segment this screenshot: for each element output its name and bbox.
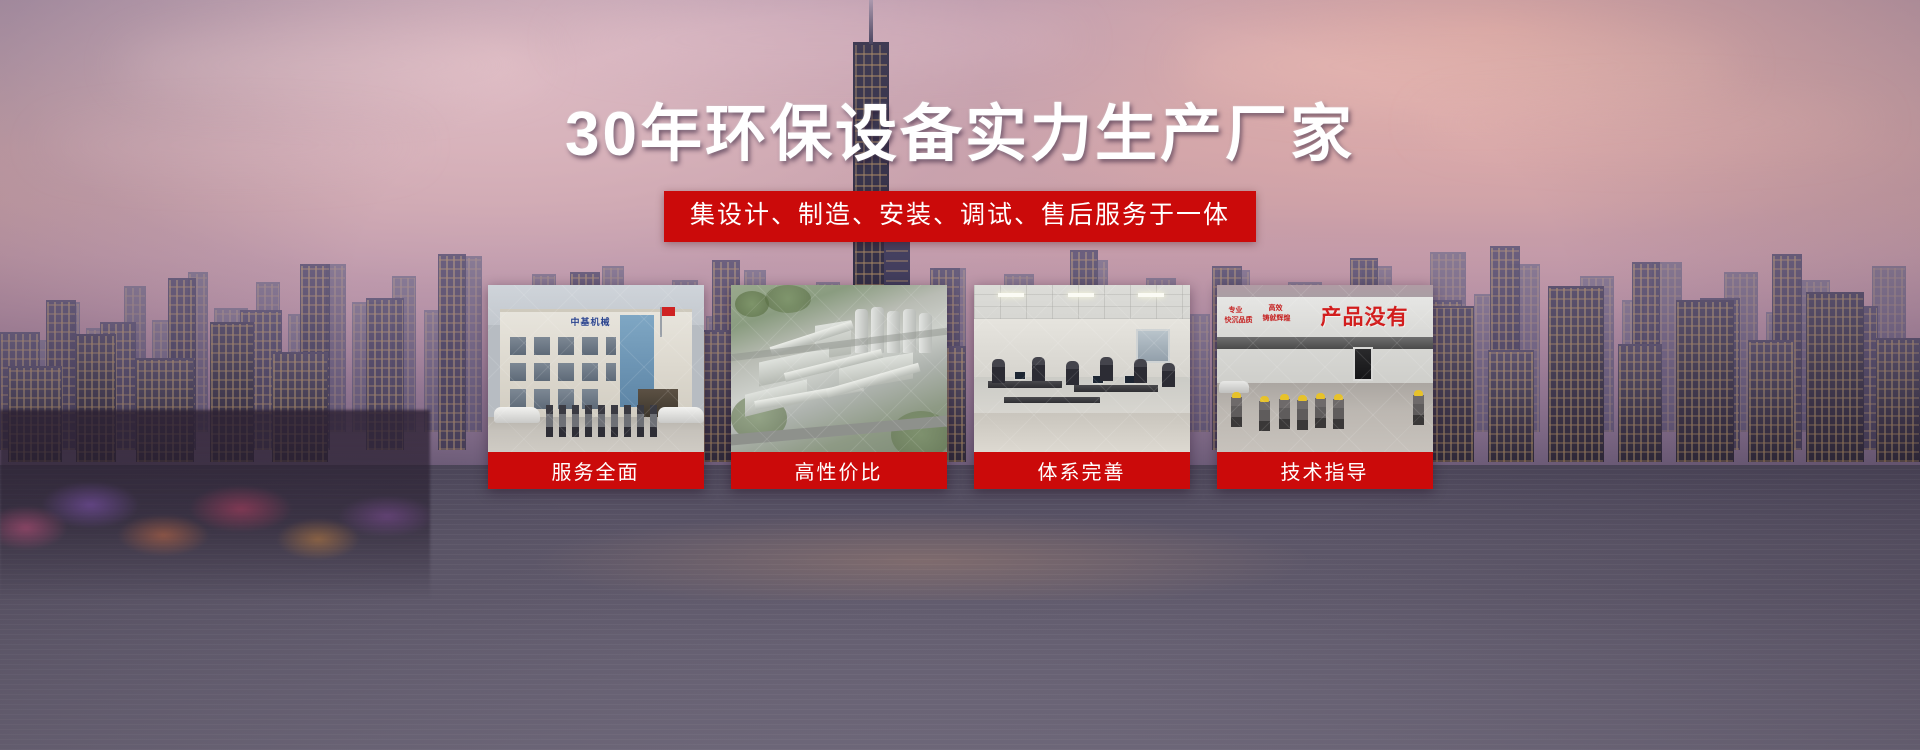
factory-slogan-4: 铸就辉煌 bbox=[1263, 315, 1291, 324]
factory-slogan-2: 快沉品质 bbox=[1225, 317, 1253, 326]
page-title: 30年环保设备实力生产厂家 bbox=[565, 104, 1355, 166]
feature-card[interactable]: 产品没有 专业 快沉品质 高效 铸就辉煌 技 bbox=[1217, 285, 1433, 489]
factory-wall-banner-text: 产品没有 bbox=[1321, 301, 1409, 331]
card-photo-factory-yard: 产品没有 专业 快沉品质 高效 铸就辉煌 bbox=[1217, 285, 1433, 452]
card-photo-company-building: 中基机械 bbox=[488, 285, 704, 452]
building-sign-text: 中基机械 bbox=[548, 315, 634, 328]
card-label: 高性价比 bbox=[731, 452, 947, 489]
feature-card-list: 中基机械 bbox=[488, 285, 1433, 489]
card-label: 体系完善 bbox=[974, 452, 1190, 489]
feature-card[interactable]: 高性价比 bbox=[731, 285, 947, 489]
feature-card[interactable]: 中基机械 bbox=[488, 285, 704, 489]
factory-slogan-3: 高效 bbox=[1269, 305, 1283, 314]
subtitle-badge: 集设计、制造、安装、调试、售后服务于一体 bbox=[664, 191, 1256, 242]
card-label: 服务全面 bbox=[488, 452, 704, 489]
banner-content: 30年环保设备实力生产厂家 集设计、制造、安装、调试、售后服务于一体 中基机械 bbox=[0, 0, 1920, 750]
feature-card[interactable]: 体系完善 bbox=[974, 285, 1190, 489]
card-photo-aerial-plant bbox=[731, 285, 947, 452]
factory-slogan-1: 专业 bbox=[1229, 307, 1243, 316]
card-label: 技术指导 bbox=[1217, 452, 1433, 489]
card-photo-office-team bbox=[974, 285, 1190, 452]
hero-banner: 30年环保设备实力生产厂家 集设计、制造、安装、调试、售后服务于一体 中基机械 bbox=[0, 0, 1920, 750]
